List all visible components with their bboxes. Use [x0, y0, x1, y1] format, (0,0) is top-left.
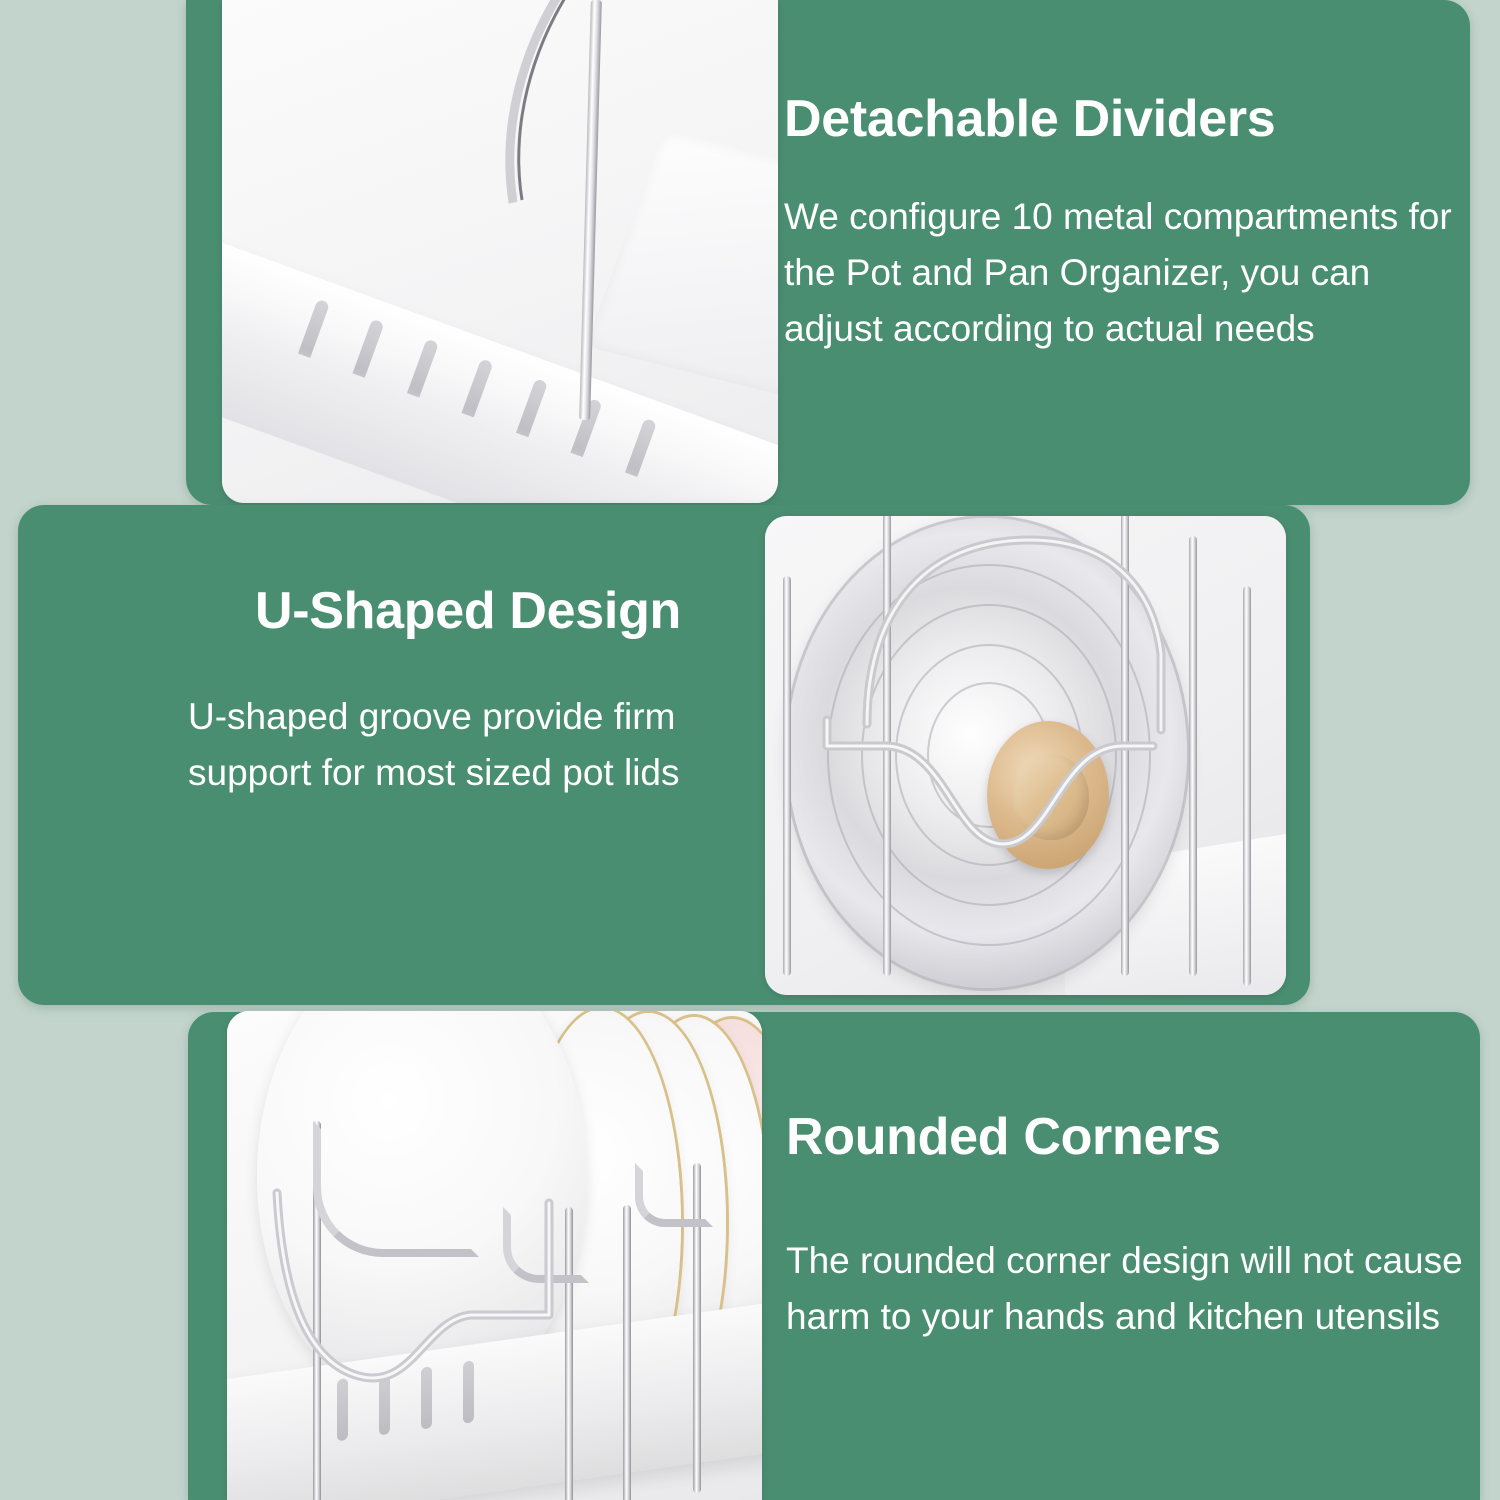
- rounded-corner-hook: [635, 1163, 713, 1227]
- u-shaped-groove-wire: [825, 712, 1155, 862]
- feature-text-detachable-dividers: Detachable Dividers We configure 10 meta…: [784, 92, 1474, 357]
- panel-body: U-shaped groove provide firm support for…: [188, 689, 748, 801]
- panel-title: Detachable Dividers: [784, 92, 1474, 147]
- product-photo-u-shaped-design: [765, 516, 1286, 995]
- upper-retainer-wire: [861, 534, 1191, 734]
- illustration-lid-in-groove: [765, 516, 1286, 995]
- rack-upright-wire: [1243, 586, 1251, 986]
- panel-body: The rounded corner design will not cause…: [786, 1233, 1476, 1345]
- panel-title: Rounded Corners: [786, 1110, 1476, 1165]
- front-support-wire: [267, 1191, 557, 1421]
- divider-wire: [623, 1205, 631, 1500]
- product-photo-rounded-corners: [227, 1011, 762, 1500]
- rack-upright-wire: [783, 576, 791, 976]
- illustration-plate-rack: [227, 1011, 762, 1500]
- product-photo-detachable-dividers: [222, 0, 778, 503]
- infographic-stage: Detachable Dividers We configure 10 meta…: [0, 0, 1500, 1500]
- feature-text-rounded-corners: Rounded Corners The rounded corner desig…: [786, 1110, 1476, 1345]
- panel-title: U-Shaped Design: [188, 584, 748, 639]
- panel-body: We configure 10 metal compartments for t…: [784, 189, 1474, 358]
- feature-text-u-shaped-design: U-Shaped Design U-shaped groove provide …: [188, 584, 748, 801]
- illustration-slotted-rail: [222, 0, 778, 503]
